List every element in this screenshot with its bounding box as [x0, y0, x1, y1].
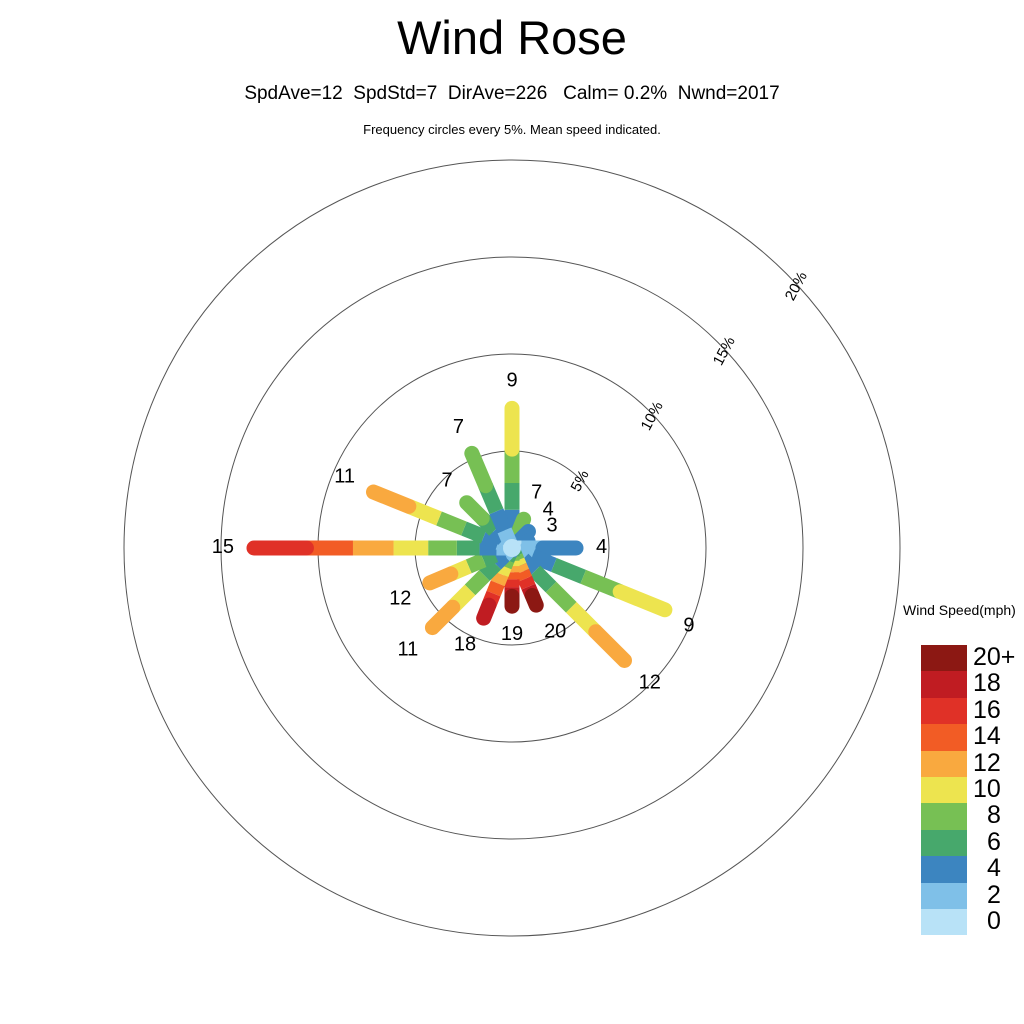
- legend-label-18: 18: [973, 669, 1024, 697]
- legend-swatch-12: [921, 751, 967, 777]
- legend-row-18[interactable]: 18: [921, 671, 1021, 697]
- legend-row-14[interactable]: 14: [921, 724, 1021, 750]
- petal-WNW-band-12: [373, 492, 408, 506]
- petal-label-S: 19: [501, 623, 523, 645]
- petal-SSE-band-16: [525, 579, 528, 587]
- legend-swatch-8: [921, 803, 967, 829]
- legend-swatch-16: [921, 698, 967, 724]
- legend-row-2[interactable]: 2: [921, 883, 1021, 909]
- petal-WNW-band-8: [439, 518, 464, 528]
- petal-label-SSW: 18: [454, 634, 476, 656]
- petal-label-NNE: 7: [531, 482, 542, 504]
- petal-label-SE: 12: [639, 672, 661, 694]
- legend-row-16[interactable]: 16: [921, 698, 1021, 724]
- petal-label-NNW: 7: [453, 416, 464, 438]
- legend-swatch-2: [921, 883, 967, 909]
- legend-row-20+[interactable]: 20+: [921, 645, 1021, 671]
- legend-swatch-20+: [921, 645, 967, 671]
- ring-labels: 5%10%15%20%: [568, 269, 811, 495]
- legend-label-10: 10: [973, 775, 1024, 803]
- petal-SSW-band-14: [494, 583, 498, 593]
- legend-label-12: 12: [973, 749, 1024, 777]
- petal-SW-band-8: [470, 576, 484, 590]
- legend-label-8: 8: [987, 801, 1024, 829]
- petal-SE-band-6: [535, 571, 551, 587]
- wind-speed-legend: 20+181614121086420: [921, 645, 1021, 935]
- petal-SSW-band-18: [484, 605, 489, 618]
- petal-label-ESE: 9: [683, 614, 694, 636]
- ring-label-20%: 20%: [782, 269, 811, 303]
- legend-label-20+: 20+: [973, 643, 1024, 671]
- legend-title: Wind Speed(mph): [903, 602, 1016, 618]
- petal-SW-band-12: [432, 607, 452, 627]
- legend-swatch-6: [921, 830, 967, 856]
- legend-label-16: 16: [973, 696, 1024, 724]
- wind-rose-page: Wind Rose SpdAve=12 SpdStd=7 DirAve=226 …: [0, 0, 1024, 1024]
- legend-swatch-18: [921, 671, 967, 697]
- petal-WNW-band-6: [464, 529, 484, 537]
- legend-row-12[interactable]: 12: [921, 751, 1021, 777]
- petal-NNW-band-8: [472, 453, 486, 485]
- legend-label-2: 2: [987, 881, 1024, 909]
- petal-label-SSE: 20: [544, 621, 566, 643]
- petal-label-WSW: 12: [389, 588, 411, 610]
- legend-swatch-4: [921, 856, 967, 882]
- legend-label-0: 0: [987, 907, 1024, 935]
- petal-SSE-band-14: [522, 572, 525, 579]
- petal-ESE-band-6: [554, 565, 583, 577]
- petal-label-NW: 7: [441, 470, 452, 492]
- petal-label-W: 15: [212, 536, 234, 558]
- petal-SE-band-8: [551, 587, 571, 607]
- legend-swatch-0: [921, 909, 967, 935]
- legend-label-14: 14: [973, 722, 1024, 750]
- petal-SSW-band-12: [498, 574, 502, 583]
- petal-NW-band-8: [467, 503, 482, 518]
- wind-petals: [254, 408, 665, 660]
- legend-row-10[interactable]: 10: [921, 777, 1021, 803]
- petal-WSW-band-12: [430, 574, 451, 583]
- petal-ESE-band-10: [620, 592, 665, 610]
- petal-label-N: 9: [506, 369, 517, 391]
- petal-WSW-band-8: [469, 560, 484, 566]
- legend-row-6[interactable]: 6: [921, 830, 1021, 856]
- legend-swatch-10: [921, 777, 967, 803]
- legend-label-6: 6: [987, 828, 1024, 856]
- petal-label-WNW: 11: [334, 466, 355, 488]
- petal-label-ENE: 3: [546, 514, 557, 536]
- legend-row-4[interactable]: 4: [921, 856, 1021, 882]
- wind-rose-plot: 5%10%15%20% 974349122019181112151177: [0, 0, 1024, 1024]
- legend-label-4: 4: [987, 854, 1024, 882]
- legend-row-0[interactable]: 0: [921, 909, 1021, 935]
- calm-center-hub: [503, 539, 521, 557]
- petal-SSE-band-12: [520, 566, 523, 572]
- petal-SSE-band-20: [532, 595, 536, 605]
- petal-NNW-band-4: [496, 511, 504, 530]
- petal-label-SW: 11: [398, 639, 419, 661]
- petal-label-E: 4: [596, 536, 607, 558]
- legend-row-8[interactable]: 8: [921, 803, 1021, 829]
- petal-SE-band-12: [596, 632, 625, 661]
- legend-swatch-14: [921, 724, 967, 750]
- petal-WSW-band-6: [484, 555, 496, 560]
